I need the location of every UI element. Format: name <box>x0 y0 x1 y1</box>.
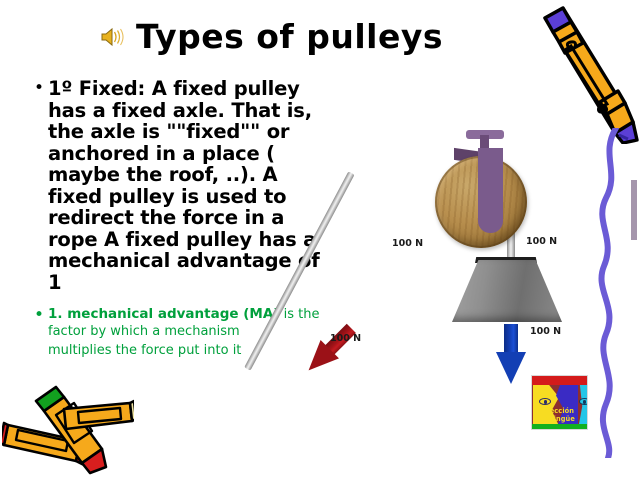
pulley-bracket-body <box>478 148 503 233</box>
logo-band-bottom <box>532 424 587 429</box>
load-force-arrow <box>496 324 526 384</box>
bullet-text-2: 1. mechanical advantage (MA) is the fact… <box>48 305 326 358</box>
wavy-line-decoration <box>586 128 638 458</box>
logo-eye-right-icon <box>579 398 588 405</box>
bullet-marker-green: • <box>34 305 48 327</box>
bullet-item-1: • 1º Fixed: A fixed pulley has a fixed a… <box>34 78 334 293</box>
slide-canvas: Types of pulleys • 1º Fixed: A fixed pul… <box>0 0 640 480</box>
bullet-text-1: 1º Fixed: A fixed pulley has a fixed axl… <box>48 78 326 293</box>
seccion-bilingue-logo[interactable]: Sección bilingüe <box>531 375 588 430</box>
bullet-item-2: • 1. mechanical advantage (MA) is the fa… <box>34 305 334 358</box>
logo-band-top <box>532 376 587 385</box>
logo-caption: Sección bilingüe <box>532 408 587 423</box>
logo-eye-left-icon <box>539 398 551 405</box>
logo-caption-line2: bilingüe <box>544 415 575 423</box>
bullet-marker: • <box>34 78 48 100</box>
crayon-clipart <box>515 2 640 144</box>
fixed-pulley-diagram: 100 N 100 N 100 N 100 N <box>330 118 580 386</box>
force-label-rope-left: 100 N <box>392 238 423 249</box>
bullet-text-2-line3: multiplies the force put into it <box>48 343 326 358</box>
force-label-load: 100 N <box>530 326 561 337</box>
content-placeholder: • 1º Fixed: A fixed pulley has a fixed a… <box>34 78 334 358</box>
hanging-weight <box>452 260 562 322</box>
bullet-text-2-strong: 1. mechanical advantage (MA) <box>48 306 279 322</box>
crayons-clipart <box>2 383 134 475</box>
force-label-effort: 100 N <box>330 333 361 344</box>
force-label-rope-right: 100 N <box>526 236 557 247</box>
slide-title-row: Types of pulleys <box>100 20 443 53</box>
speaker-icon[interactable] <box>100 25 126 49</box>
blue-arrow-head <box>496 352 526 384</box>
page-title: Types of pulleys <box>136 20 443 53</box>
